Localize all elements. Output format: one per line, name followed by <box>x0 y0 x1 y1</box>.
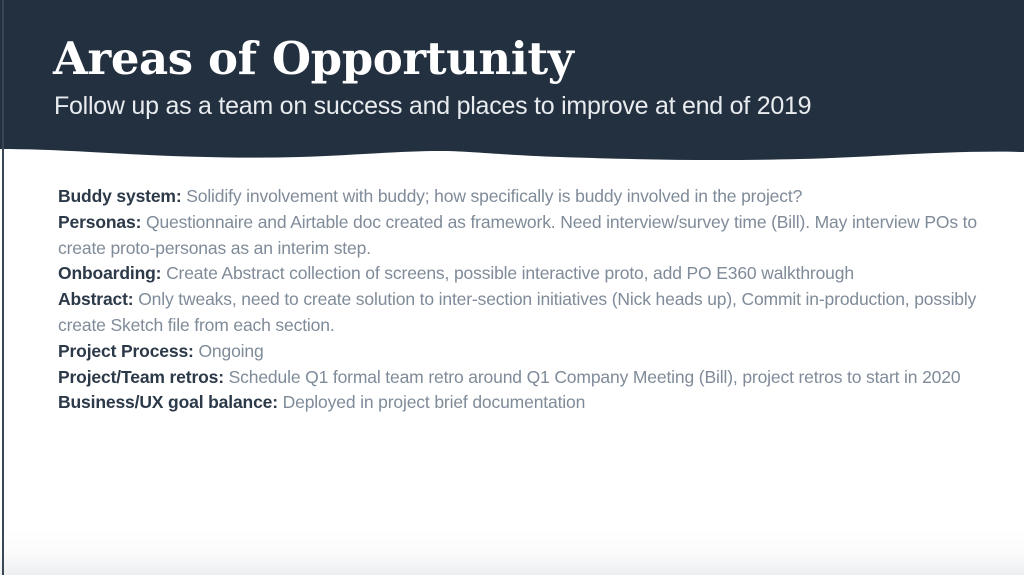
list-item-text: Only tweaks, need to create solution to … <box>58 289 976 335</box>
body-content: Buddy system: Solidify involvement with … <box>58 184 993 416</box>
list-item: Abstract: Only tweaks, need to create so… <box>58 287 993 339</box>
list-item-label: Project Process: <box>58 341 194 361</box>
list-item-text: Schedule Q1 formal team retro around Q1 … <box>229 367 961 387</box>
list-item: Onboarding: Create Abstract collection o… <box>58 261 993 287</box>
list-item-label: Business/UX goal balance: <box>58 392 278 412</box>
bottom-shadow <box>0 529 1024 575</box>
list-item: Business/UX goal balance: Deployed in pr… <box>58 390 993 416</box>
list-item-text: Solidify involvement with buddy; how spe… <box>186 186 802 206</box>
list-item-text: Questionnaire and Airtable doc created a… <box>58 212 977 258</box>
list-item-text: Ongoing <box>198 341 263 361</box>
list-item: Project/Team retros: Schedule Q1 formal … <box>58 365 993 391</box>
list-item-label: Abstract: <box>58 289 133 309</box>
list-item-label: Buddy system: <box>58 186 182 206</box>
slide-canvas: Areas of Opportunity Follow up as a team… <box>0 0 1024 575</box>
list-item-text: Create Abstract collection of screens, p… <box>166 263 854 283</box>
list-item: Buddy system: Solidify involvement with … <box>58 184 993 210</box>
list-item-label: Project/Team retros: <box>58 367 224 387</box>
slide-header-band: Areas of Opportunity Follow up as a team… <box>0 0 1024 165</box>
left-edge-rule <box>2 0 4 575</box>
page-title: Areas of Opportunity <box>53 33 574 85</box>
list-item-label: Personas: <box>58 212 141 232</box>
list-item-text: Deployed in project brief documentation <box>283 392 586 412</box>
list-item: Personas: Questionnaire and Airtable doc… <box>58 210 993 262</box>
page-subtitle: Follow up as a team on success and place… <box>54 91 811 121</box>
list-item: Project Process: Ongoing <box>58 339 993 365</box>
list-item-label: Onboarding: <box>58 263 161 283</box>
